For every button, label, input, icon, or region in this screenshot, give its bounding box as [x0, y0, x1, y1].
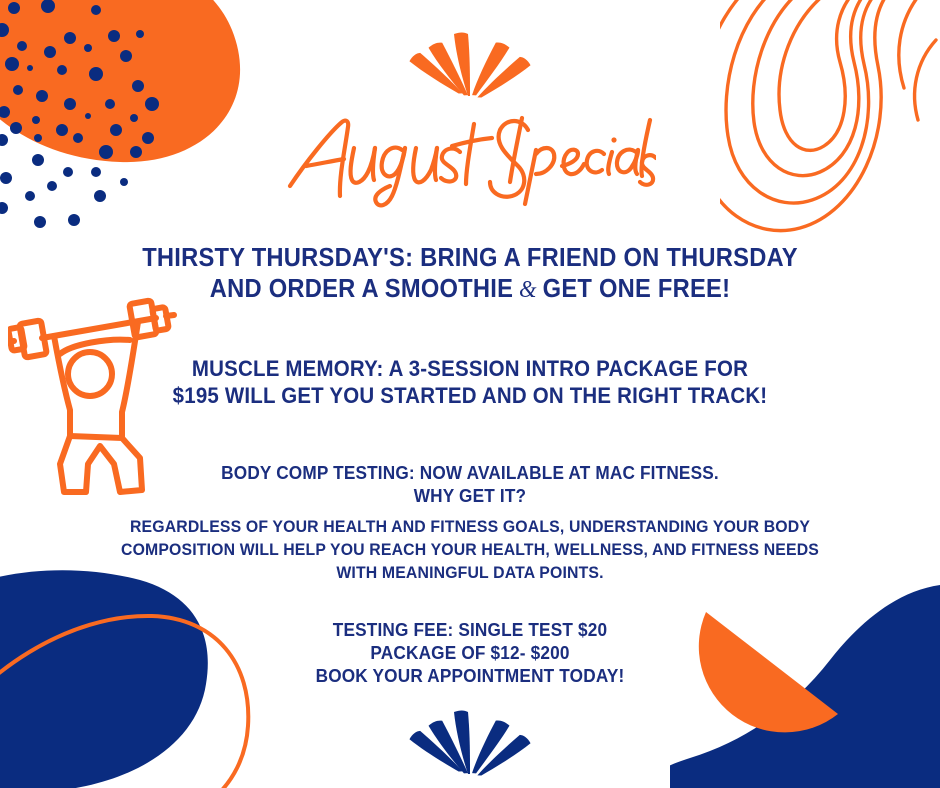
thirsty-thursday-line1: THIRSTY THURSDAY'S: BRING A FRIEND ON TH… [33, 243, 907, 274]
muscle-memory-line2: $195 WILL GET YOU STARTED AND ON THE RIG… [33, 382, 907, 409]
spacer-1 [0, 305, 940, 355]
thirsty-thursday-line2-a: AND ORDER A SMOOTHIE [210, 275, 513, 303]
body-comp-desc-line3: WITH MEANINGFUL DATA POINTS. [33, 561, 907, 584]
pricing-cta: BOOK YOUR APPOINTMENT TODAY! [33, 664, 907, 687]
offer-thirsty-thursday: THIRSTY THURSDAY'S: BRING A FRIEND ON TH… [0, 243, 940, 305]
poster-content: August Specials [0, 0, 940, 788]
pricing-fee: TESTING FEE: SINGLE TEST $20 [33, 618, 907, 641]
body-comp-headline: BODY COMP TESTING: NOW AVAILABLE AT MAC … [33, 461, 907, 484]
title-script-lettering: August Specials [284, 104, 656, 212]
thirsty-thursday-line2: AND ORDER A SMOOTHIE & GET ONE FREE! [33, 274, 907, 305]
offer-blocks: THIRSTY THURSDAY'S: BRING A FRIEND ON TH… [0, 243, 940, 687]
poster-title: August Specials [0, 104, 940, 212]
spacer-2 [0, 409, 940, 461]
body-comp-desc-line2: COMPOSITION WILL HELP YOU REACH YOUR HEA… [33, 538, 907, 561]
ampersand-glyph: & [513, 276, 542, 303]
spacer-4 [0, 584, 940, 618]
offer-body-comp: BODY COMP TESTING: NOW AVAILABLE AT MAC … [0, 461, 940, 584]
muscle-memory-line1: MUSCLE MEMORY: A 3-SESSION INTRO PACKAGE… [33, 355, 907, 382]
offer-muscle-memory: MUSCLE MEMORY: A 3-SESSION INTRO PACKAGE… [0, 355, 940, 409]
spacer-3 [0, 507, 940, 515]
pricing-package: PACKAGE OF $12- $200 [33, 641, 907, 664]
thirsty-thursday-line2-b: GET ONE FREE! [543, 275, 731, 303]
body-comp-desc-line1: REGARDLESS OF YOUR HEALTH AND FITNESS GO… [33, 515, 907, 538]
pricing-block: TESTING FEE: SINGLE TEST $20 PACKAGE OF … [0, 618, 940, 687]
body-comp-question: WHY GET IT? [33, 484, 907, 507]
poster-canvas: August Specials [0, 0, 940, 788]
